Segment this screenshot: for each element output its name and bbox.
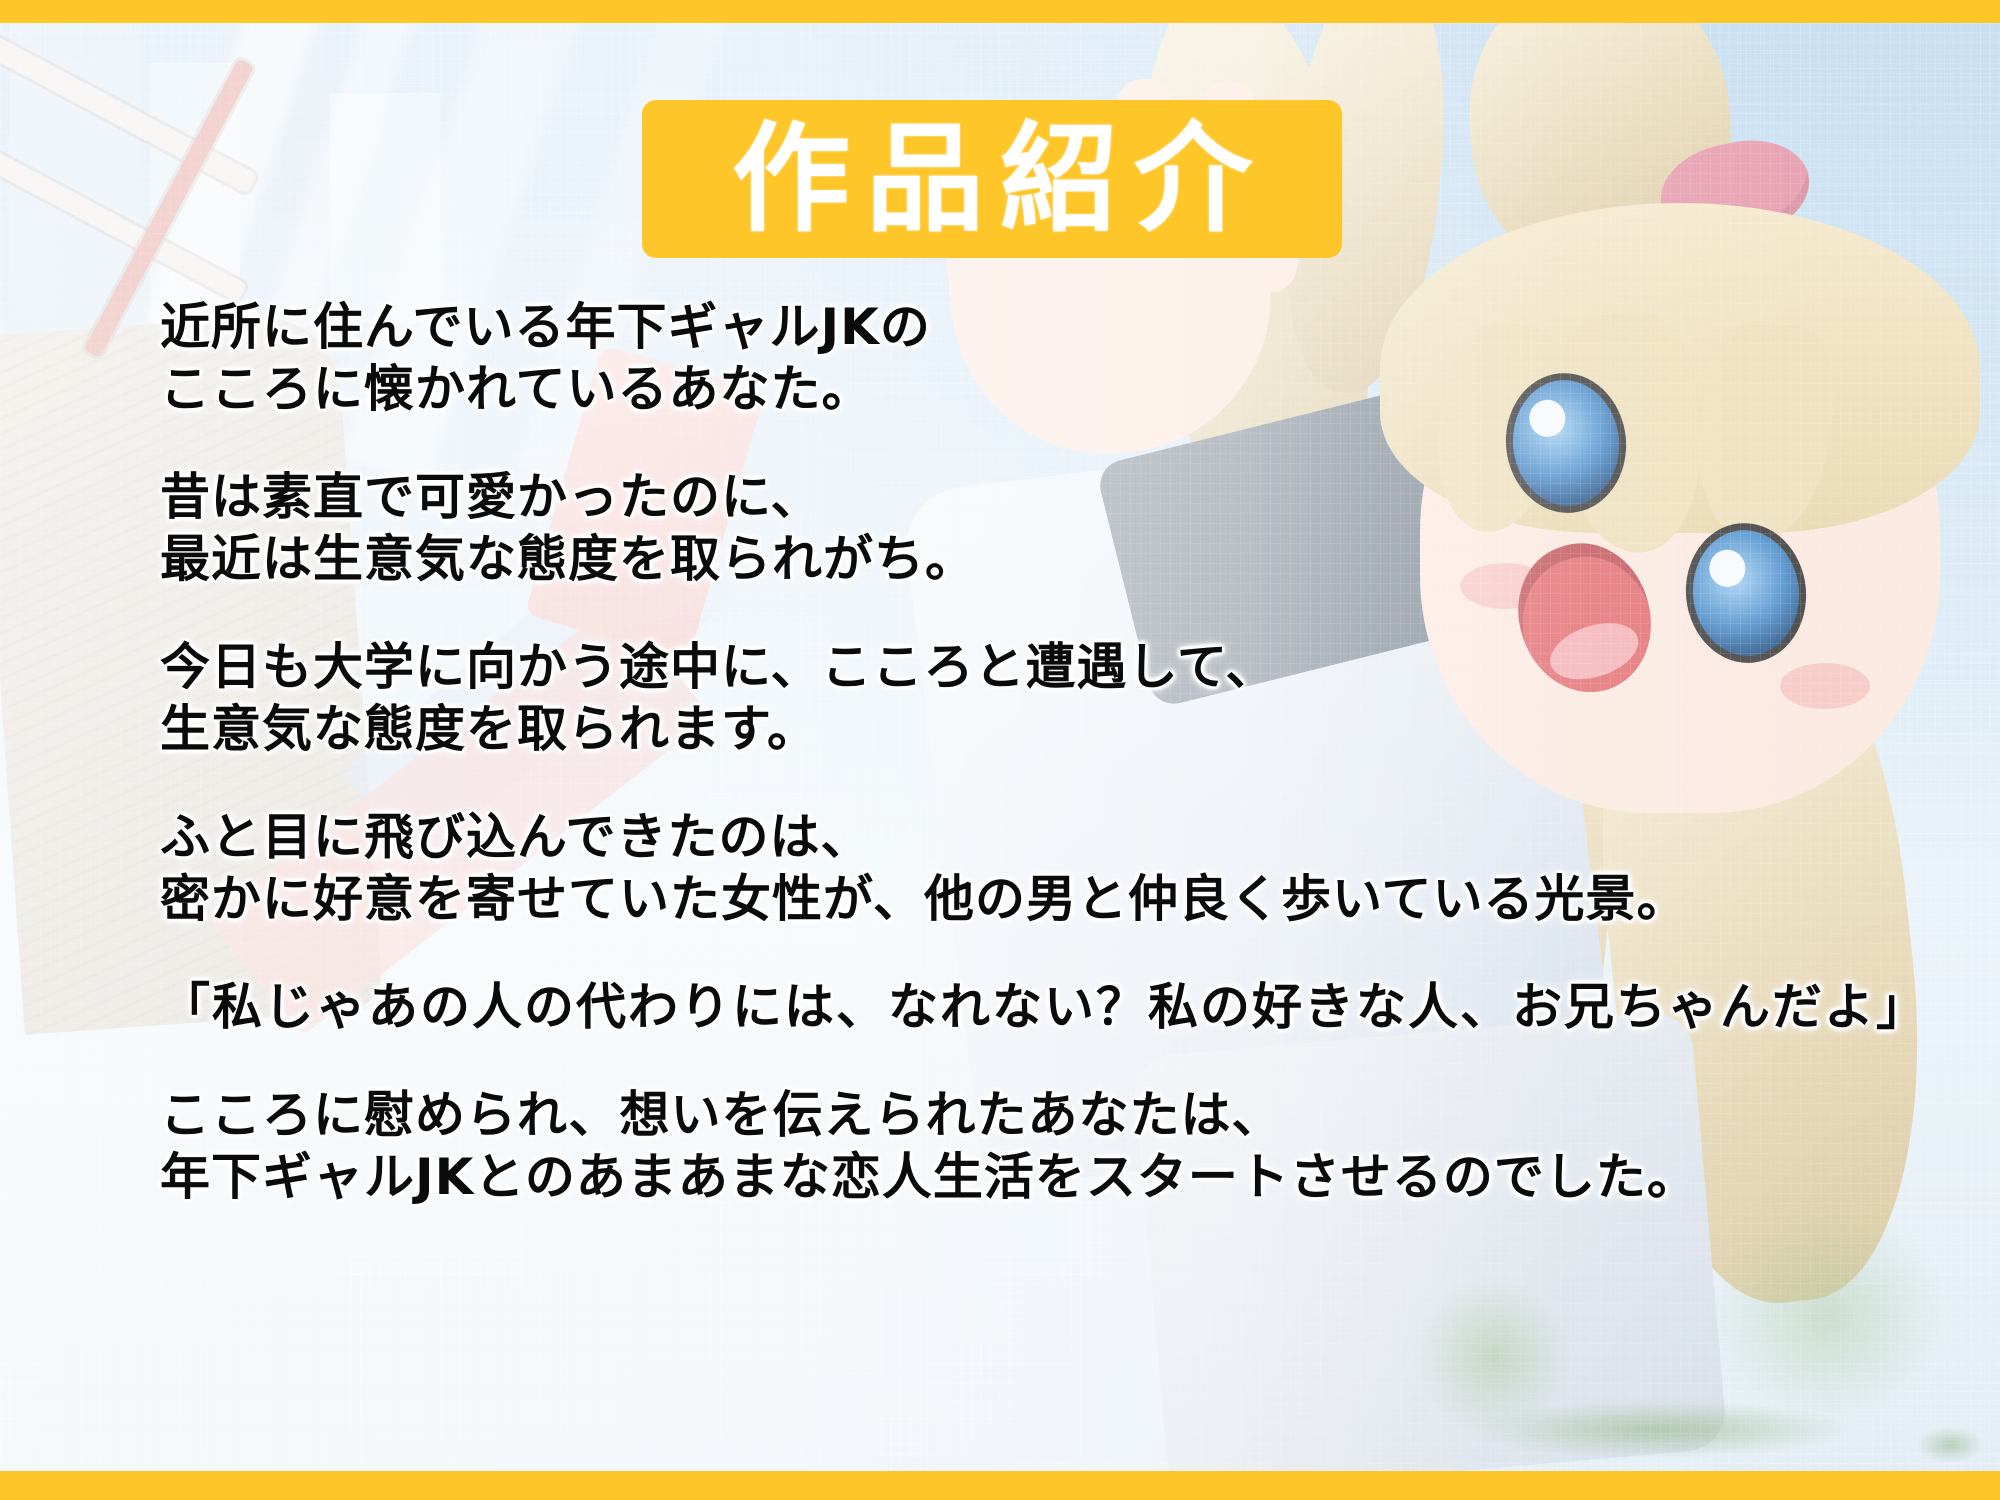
paragraph-past-vs-now: 昔は素直で可愛かったのに、 最近は生意気な態度を取られがち。 [160,466,1900,590]
paragraph-line: 最近は生意気な態度を取られがち。 [160,528,1900,590]
paragraph-line: ふと目に飛び込んできたのは、 [160,806,1900,868]
content-layer: 作品紹介 近所に住んでいる年下ギャルJKの こころに懐かれているあなた。 昔は素… [0,0,2000,1500]
paragraph-line: 年下ギャルJKとのあまあまな恋人生活をスタートさせるのでした。 [160,1146,1900,1208]
description-body: 近所に住んでいる年下ギャルJKの こころに懐かれているあなた。 昔は素直で可愛か… [160,296,1900,1208]
section-title-banner: 作品紹介 [642,100,1342,258]
paragraph-outro: こころに慰められ、想いを伝えられたあなたは、 年下ギャルJKとのあまあまな恋人生… [160,1084,1900,1208]
paragraph-intro: 近所に住んでいる年下ギャルJKの こころに懐かれているあなた。 [160,296,1900,420]
paragraph-quote: 「私じゃあの人の代わりには、なれない？私の好きな人、お兄ちゃんだよ」 [160,976,1900,1038]
top-brand-bar [0,0,2000,23]
paragraph-line: 密かに好意を寄せていた女性が、他の男と仲良く歩いている光景。 [160,868,1900,930]
paragraph-heartbreak: ふと目に飛び込んできたのは、 密かに好意を寄せていた女性が、他の男と仲良く歩いて… [160,806,1900,930]
screenshot-canvas: 作品紹介 近所に住んでいる年下ギャルJKの こころに懐かれているあなた。 昔は素… [0,0,2000,1500]
paragraph-encounter: 今日も大学に向かう途中に、こころと遭遇して、 生意気な態度を取られます。 [160,636,1900,760]
bottom-brand-bar [0,1471,2000,1500]
paragraph-line: 昔は素直で可愛かったのに、 [160,466,1900,528]
paragraph-line: 今日も大学に向かう途中に、こころと遭遇して、 [160,636,1900,698]
quote-line: 「私じゃあの人の代わりには、なれない？私の好きな人、お兄ちゃんだよ」 [160,976,1900,1038]
page-title: 作品紹介 [716,120,1268,238]
paragraph-line: こころに懐かれているあなた。 [160,358,1900,420]
paragraph-line: 生意気な態度を取られます。 [160,698,1900,760]
paragraph-line: 近所に住んでいる年下ギャルJKの [160,296,1900,358]
paragraph-line: こころに慰められ、想いを伝えられたあなたは、 [160,1084,1900,1146]
